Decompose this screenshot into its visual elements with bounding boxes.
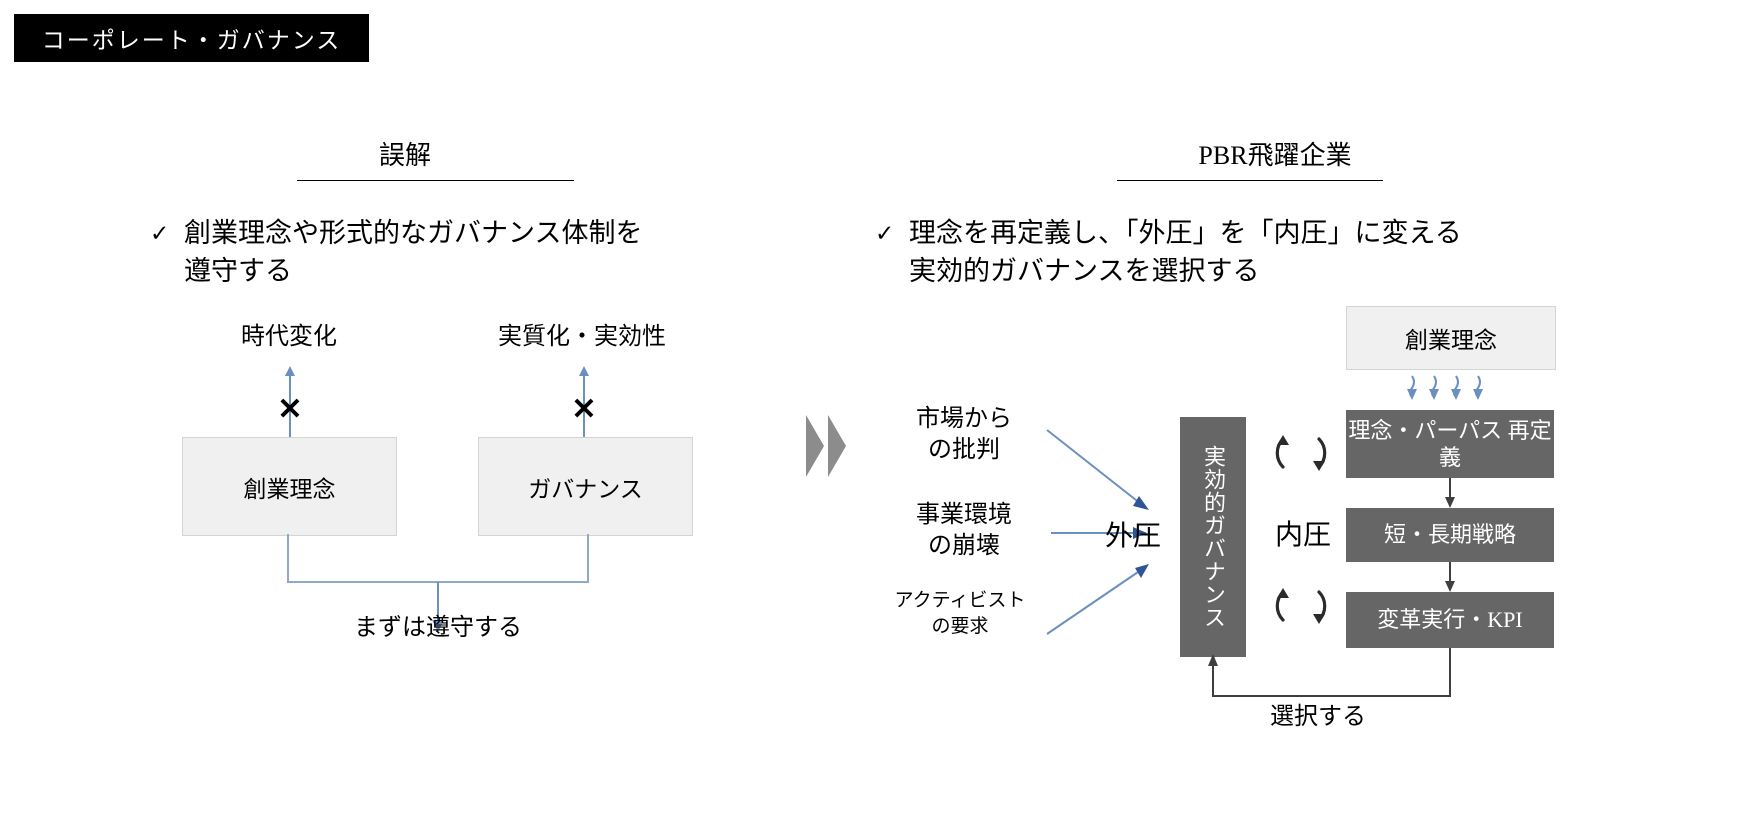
external-pressure-label: 外圧 [1092, 514, 1174, 554]
right-box-founding-philosophy: 創業理念 [1346, 306, 1556, 370]
right-box-strategy: 短・長期戦略 [1346, 508, 1554, 562]
cycle-arrow-icon-top [1273, 425, 1329, 481]
feedback-loop-label: 選択する [1218, 702, 1418, 733]
down-arrow-icon-2 [1443, 562, 1457, 592]
left-label-era-change: 時代変化 [183, 322, 395, 353]
right-label-activist-demand: アクティビスト の要求 [880, 588, 1040, 639]
left-x-icon-governance: ✕ [571, 392, 597, 427]
left-bullet-text: 創業理念や形式的なガバナンス体制を 遵守する [184, 214, 642, 291]
slide-title-banner: コーポレート・ガバナンス [14, 14, 369, 62]
left-column-heading: 誤解 [240, 135, 570, 172]
slide-canvas: コーポレート・ガバナンス 誤解 ✓ 創業理念や形式的なガバナンス体制を 遵守する… [0, 0, 1749, 822]
right-heading-rule [1117, 180, 1383, 181]
feedback-loop-connector [1205, 648, 1457, 704]
transition-chevron-icon [806, 415, 850, 477]
left-box-founding-philosophy: 創業理念 [182, 437, 397, 536]
left-box-governance: ガバナンス [478, 437, 693, 536]
right-bullet: ✓ 理念を再定義し、「外圧」を「内圧」に変える 実効的ガバナンスを選択する [875, 214, 1595, 291]
check-icon: ✓ [150, 214, 184, 251]
slide-title-text: コーポレート・ガバナンス [42, 21, 342, 55]
effective-governance-box: 実効的ガバナンス [1180, 417, 1246, 657]
check-icon: ✓ [875, 214, 909, 251]
right-column-heading: PBR飛躍企業 [1075, 135, 1475, 172]
right-label-business-collapse: 事業環境 の崩壊 [896, 500, 1032, 562]
wavy-down-arrows-icon [1404, 374, 1496, 400]
right-bullet-text: 理念を再定義し、「外圧」を「内圧」に変える 実効的ガバナンスを選択する [909, 214, 1462, 291]
left-label-substance: 実質化・実効性 [452, 322, 712, 353]
cycle-arrow-icon-bottom [1273, 578, 1329, 634]
left-heading-rule [297, 180, 574, 181]
right-label-market-criticism: 市場から の批判 [896, 404, 1032, 466]
right-box-transformation-kpi: 変革実行・KPI [1346, 592, 1554, 648]
internal-pressure-label: 内圧 [1265, 513, 1341, 553]
down-arrow-icon-1 [1443, 478, 1457, 508]
left-footer-label: まずは遵守する [318, 613, 558, 644]
left-x-icon-philosophy: ✕ [277, 392, 303, 427]
right-box-purpose-redefinition: 理念・パーパス 再定義 [1346, 410, 1554, 478]
left-bullet: ✓ 創業理念や形式的なガバナンス体制を 遵守する [150, 214, 750, 291]
